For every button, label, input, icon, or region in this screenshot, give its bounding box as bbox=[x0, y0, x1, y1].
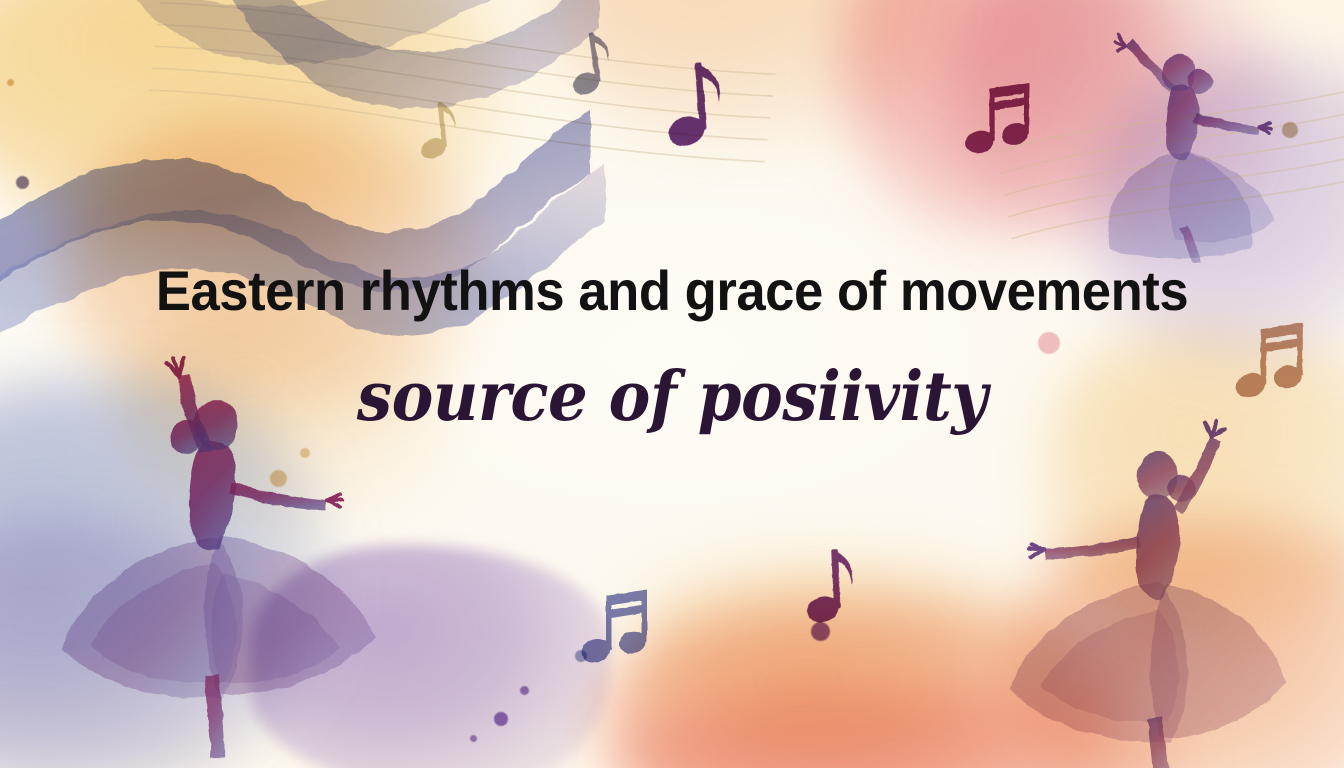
paper-background bbox=[0, 0, 1344, 768]
poster-canvas: Eastern rhythms and grace of movements s… bbox=[0, 0, 1344, 768]
